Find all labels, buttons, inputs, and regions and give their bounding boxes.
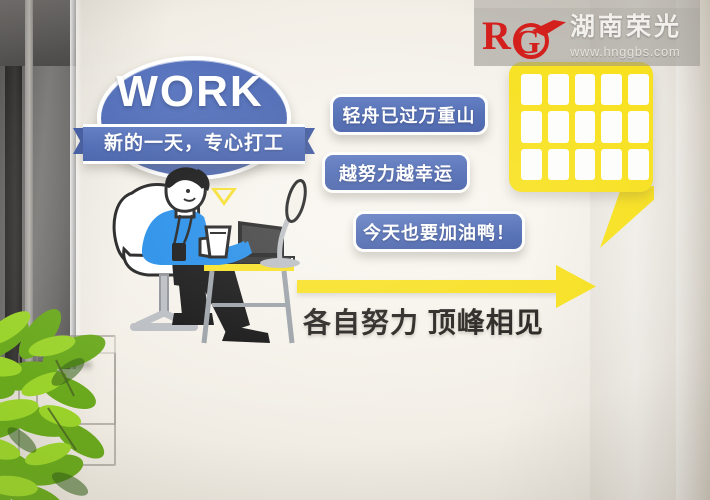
watermark-url: www.hnggbs.com bbox=[570, 44, 682, 59]
watermark-logo-letter-r: R bbox=[482, 16, 511, 56]
watermark-logo-icon: R G bbox=[480, 14, 566, 60]
watermark-top-bar bbox=[474, 0, 700, 8]
screenshot-root: WORK 新的一天，专心打工 bbox=[0, 0, 710, 500]
watermark-text-block: 湖南荣光 www.hnggbs.com bbox=[570, 15, 682, 58]
watermark-brand-name: 湖南荣光 bbox=[570, 15, 682, 41]
watermark: R G 湖南荣光 www.hnggbs.com bbox=[474, 8, 700, 66]
photo-vignette bbox=[0, 0, 710, 500]
